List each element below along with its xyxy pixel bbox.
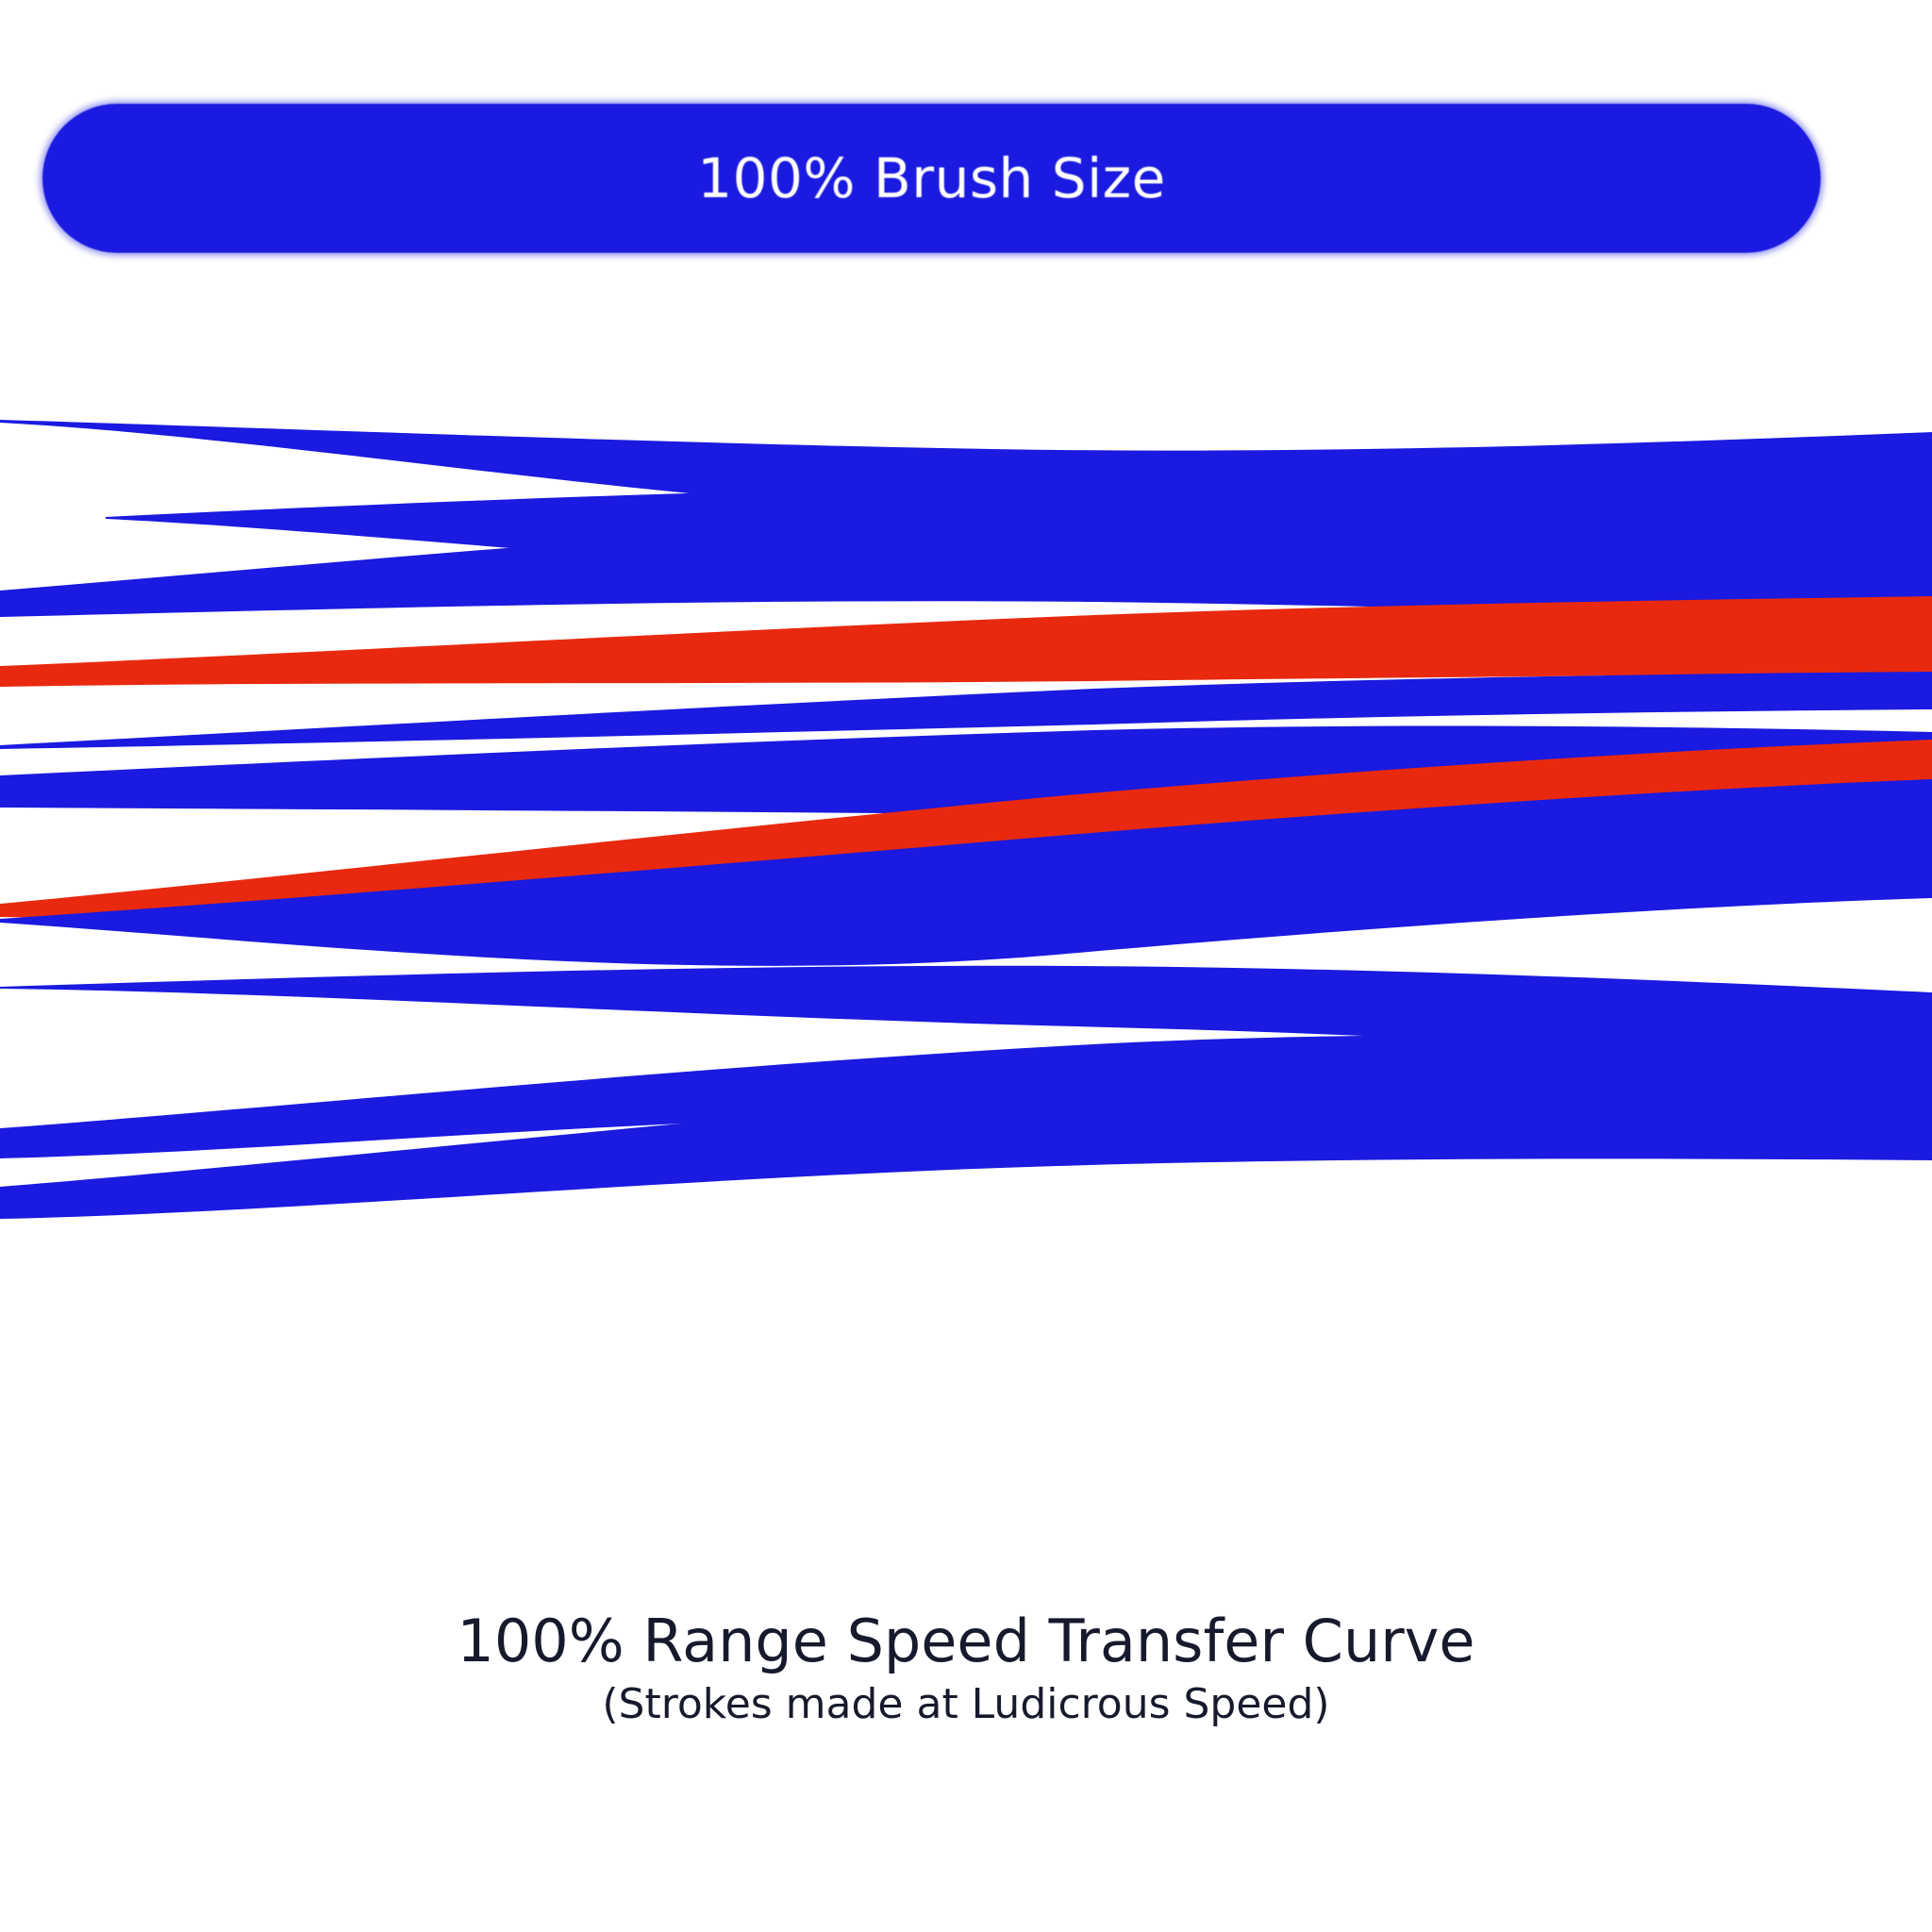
caption-block: 100% Range Speed Transfer Curve (Strokes… (0, 1608, 1932, 1729)
caption-title: 100% Range Speed Transfer Curve (0, 1608, 1932, 1674)
brush-stroke-canvas[interactable] (0, 406, 1932, 1623)
brush-stroke-svg (0, 406, 1932, 1623)
brush-size-button[interactable]: 100% Brush Size (42, 104, 1821, 253)
brush-size-label: 100% Brush Size (697, 151, 1166, 206)
caption-subtitle: (Strokes made at Ludicrous Speed) (0, 1681, 1932, 1729)
